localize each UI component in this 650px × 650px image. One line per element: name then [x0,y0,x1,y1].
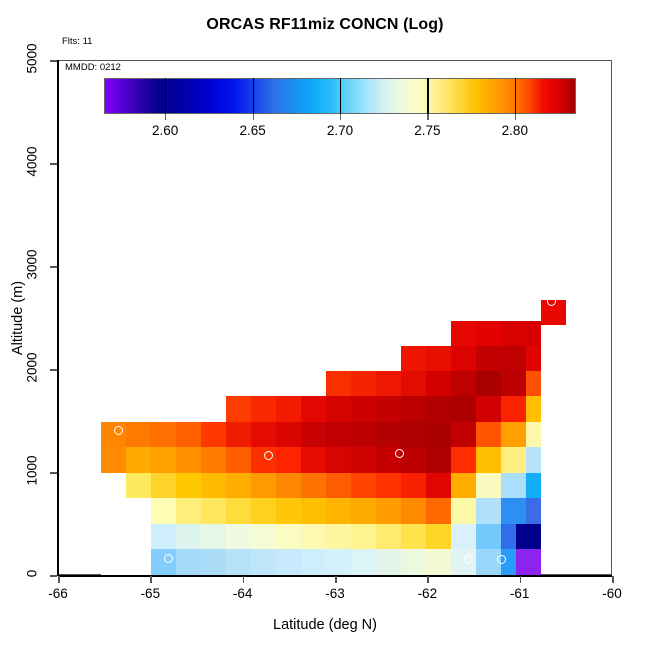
heatmap-cell [526,473,541,498]
colorbar-tick [253,114,254,120]
heatmap-cell [251,549,276,575]
heatmap-cell [226,422,251,447]
heatmap-cell [276,498,301,524]
heatmap-cell [451,498,476,524]
sample-marker [114,426,123,435]
heatmap-cell [126,524,151,549]
heatmap-cell [201,447,226,473]
heatmap-cell [526,396,541,422]
heatmap-cell [476,371,501,396]
heatmap-cell [201,524,226,549]
heatmap-cell [376,524,401,549]
y-axis-line [57,60,59,576]
heatmap-cell [501,422,526,447]
heatmap-cell [326,371,351,396]
heatmap-cell [501,396,526,422]
heatmap-cell [276,422,301,447]
heatmap-cell [526,422,541,447]
heatmap-cell [451,371,476,396]
heatmap-cell [101,447,126,473]
heatmap-cell [526,371,541,396]
heatmap-cell [176,447,201,473]
colorbar-separator [515,78,516,114]
heatmap-cell [476,346,501,371]
heatmap-cell [176,498,201,524]
heatmap-cell [401,498,426,524]
heatmap-cell [401,447,426,473]
heatmap-cell [301,396,326,422]
heatmap-cell [276,447,301,473]
x-tick-label: -63 [305,586,365,601]
y-tick-label: 3000 [25,235,40,295]
heatmap-cell [226,447,251,473]
y-tick [50,60,57,62]
heatmap-cell [516,549,541,575]
colorbar-tick-label: 2.60 [135,123,195,138]
colorbar-tick-label: 2.75 [397,123,457,138]
x-tick-label: -64 [213,586,273,601]
heatmap-cell [476,498,501,524]
sample-marker [264,451,273,460]
heatmap-cell [476,524,501,549]
heatmap-cell [516,524,541,549]
heatmap-cell [451,549,476,575]
heatmap-cell [326,498,351,524]
heatmap-cell [301,524,326,549]
heatmap-cell [351,498,376,524]
y-tick-label: 5000 [25,29,40,89]
colorbar-tick [515,114,516,120]
y-axis-label: Altitude (m) [10,258,26,378]
heatmap-cell [526,346,541,371]
heatmap-cell [276,524,301,549]
heatmap-cell [151,422,176,447]
heatmap-cell [351,371,376,396]
heatmap-cell [301,549,326,575]
colorbar-separator [340,78,341,114]
heatmap-cell [376,422,401,447]
heatmap-cell [151,447,176,473]
x-tick [520,576,522,583]
x-tick-label: -60 [582,586,642,601]
heatmap-cell [476,473,501,498]
heatmap-cell [126,473,151,498]
colorbar-tick-label: 2.80 [485,123,545,138]
sample-marker [497,555,506,564]
plot-root: ORCAS RF11miz CONCN (Log) Flts: 11 MMDD:… [0,0,650,650]
heatmap-cell [401,422,426,447]
heatmap-cell [201,473,226,498]
heatmap-cell [501,321,526,346]
heatmap-cell [426,498,451,524]
heatmap-cell [401,346,426,371]
heatmap-cell [126,447,151,473]
heatmap-cell [126,498,151,524]
heatmap-cell [401,524,426,549]
heatmap-cell [301,473,326,498]
heatmap-cell [426,396,451,422]
heatmap-cell [251,422,276,447]
y-tick-label: 4000 [25,132,40,192]
x-tick [427,576,429,583]
heatmap-cell [151,549,176,575]
heatmap-cell [526,447,541,473]
sample-marker [547,297,556,306]
heatmap-cell [426,371,451,396]
heatmap-cell [426,473,451,498]
heatmap-cell [401,473,426,498]
heatmap-cell [151,498,176,524]
date-annotation: MMDD: 0212 [63,61,123,74]
heatmap-cell [501,447,526,473]
heatmap-cell [451,473,476,498]
heatmap-cell [251,473,276,498]
heatmap-cell [351,524,376,549]
colorbar-separator [253,78,254,114]
x-tick [150,576,152,583]
y-tick [50,575,57,577]
colorbar-separator [427,78,428,114]
heatmap-cell [201,549,226,575]
heatmap-cell [451,321,476,346]
heatmap-cell [326,473,351,498]
heatmap-cell [426,447,451,473]
heatmap-cell [251,498,276,524]
heatmap-cell [276,549,301,575]
heatmap-cell [401,396,426,422]
colorbar-tick [165,114,166,120]
heatmap-cell [351,473,376,498]
heatmap-cell [526,498,541,524]
heatmap-cell [126,549,151,575]
heatmap-cell [526,321,541,346]
heatmap-cell [201,498,226,524]
heatmap-cell [226,498,251,524]
heatmap-cell [101,549,126,575]
heatmap-cell [476,396,501,422]
heatmap-cell [176,524,201,549]
heatmap-cell [101,524,126,549]
heatmap-cell [376,473,401,498]
heatmap-cell [476,321,501,346]
heatmap-cell [351,422,376,447]
y-tick [50,369,57,371]
heatmap-cell [351,396,376,422]
heatmap-cell [376,549,401,575]
heatmap-cell [426,549,451,575]
heatmap-cell [451,346,476,371]
heatmap-cell [226,396,251,422]
colorbar-separator [165,78,166,114]
heatmap-cell [326,422,351,447]
heatmap-cell [276,396,301,422]
heatmap-cell [376,498,401,524]
colorbar-tick-label: 2.65 [223,123,283,138]
x-tick [612,576,614,583]
heatmap-cell [451,396,476,422]
heatmap-cell [301,422,326,447]
heatmap-cell [501,346,526,371]
x-axis-label: Latitude (deg N) [0,617,650,633]
heatmap-cell [501,498,526,524]
y-tick-label: 2000 [25,338,40,398]
heatmap-cell [501,371,526,396]
x-tick [243,576,245,583]
heatmap-cell [226,524,251,549]
heatmap-cell [326,549,351,575]
heatmap-cell [401,549,426,575]
flights-annotation: Flts: 11 [62,36,92,47]
y-tick [50,266,57,268]
heatmap-cell [326,396,351,422]
colorbar-tick [427,114,428,120]
heatmap-cell [301,447,326,473]
heatmap-cell [426,422,451,447]
colorbar-tick [340,114,341,120]
heatmap-cell [101,498,126,524]
heatmap-cell [276,473,301,498]
heatmap-cell [101,422,126,447]
heatmap-cell [176,473,201,498]
heatmap-cell [426,346,451,371]
heatmap-cell [151,524,176,549]
x-tick-label: -65 [120,586,180,601]
heatmap-cell [476,447,501,473]
heatmap-cell [101,473,126,498]
sample-marker [395,449,404,458]
colorbar[interactable] [104,78,576,114]
heatmap-cell [401,371,426,396]
heatmap-cell [501,473,526,498]
page-title: ORCAS RF11miz CONCN (Log) [0,16,650,34]
heatmap-cell [176,549,201,575]
heatmap-cell [226,473,251,498]
heatmap-cell [251,447,276,473]
heatmap-cell [226,549,251,575]
heatmap-cell [251,396,276,422]
heatmap-cell [176,422,201,447]
heatmap-cell [326,524,351,549]
x-tick-label: -62 [397,586,457,601]
heatmap-cell [451,524,476,549]
colorbar-tick-label: 2.70 [310,123,370,138]
heatmap-cell [251,524,276,549]
heatmap-cell [201,422,226,447]
heatmap-cell [376,396,401,422]
heatmap-cell [301,498,326,524]
heatmap-cell [451,422,476,447]
heatmap-cell [126,422,151,447]
heatmap-cell [326,447,351,473]
heatmap-cell [351,447,376,473]
y-tick [50,472,57,474]
heatmap-cell [351,549,376,575]
heatmap-cell [426,524,451,549]
x-tick [335,576,337,583]
heatmap-cell [151,473,176,498]
heatmap-cell [376,371,401,396]
y-tick-label: 1000 [25,441,40,501]
heatmap-cell [476,422,501,447]
y-tick [50,163,57,165]
x-tick [58,576,60,583]
heatmap-cell [451,447,476,473]
y-tick-label: 0 [25,544,40,604]
x-tick-label: -61 [490,586,550,601]
